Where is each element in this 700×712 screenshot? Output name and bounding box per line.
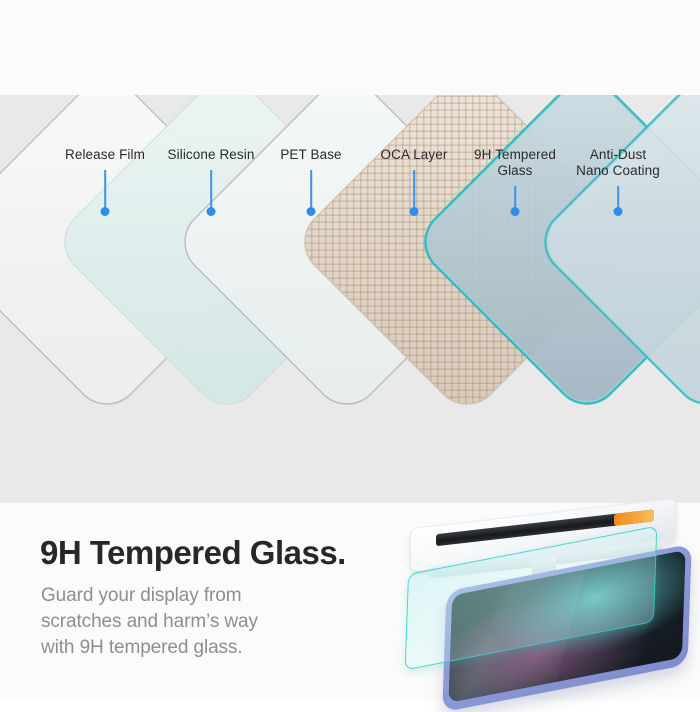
product-photo (398, 507, 698, 697)
body-copy-line-3: with 9H tempered glass. (41, 635, 381, 661)
callout-dot-silicone-resin (207, 207, 216, 216)
product-infographic: Release Film Silicone Resin PET Base OCA… (0, 0, 700, 700)
callout-dot-anti-dust-nano-coating (614, 207, 623, 216)
callout-dot-pet-base (307, 207, 316, 216)
callout-dot-9h-tempered-glass (511, 207, 520, 216)
callout-anti-dust-nano-coating: Anti-Dust Nano Coating (543, 147, 693, 179)
headline: 9H Tempered Glass. (40, 534, 346, 572)
callout-dot-oca-layer (410, 207, 419, 216)
callout-line-silicone-resin (210, 170, 212, 210)
marketing-block: 9H Tempered Glass. Guard your display fr… (0, 503, 700, 700)
callout-line-oca-layer (413, 170, 415, 210)
body-copy: Guard your display from scratches and ha… (41, 583, 381, 661)
body-copy-line-1: Guard your display from (41, 583, 381, 609)
callout-line-release-film (104, 170, 106, 210)
callout-dot-release-film (101, 207, 110, 216)
body-copy-line-2: scratches and harm’s way (41, 609, 381, 635)
callout-line-pet-base (310, 170, 312, 210)
callout-label-anti-dust-nano-coating: Anti-Dust Nano Coating (543, 147, 693, 179)
